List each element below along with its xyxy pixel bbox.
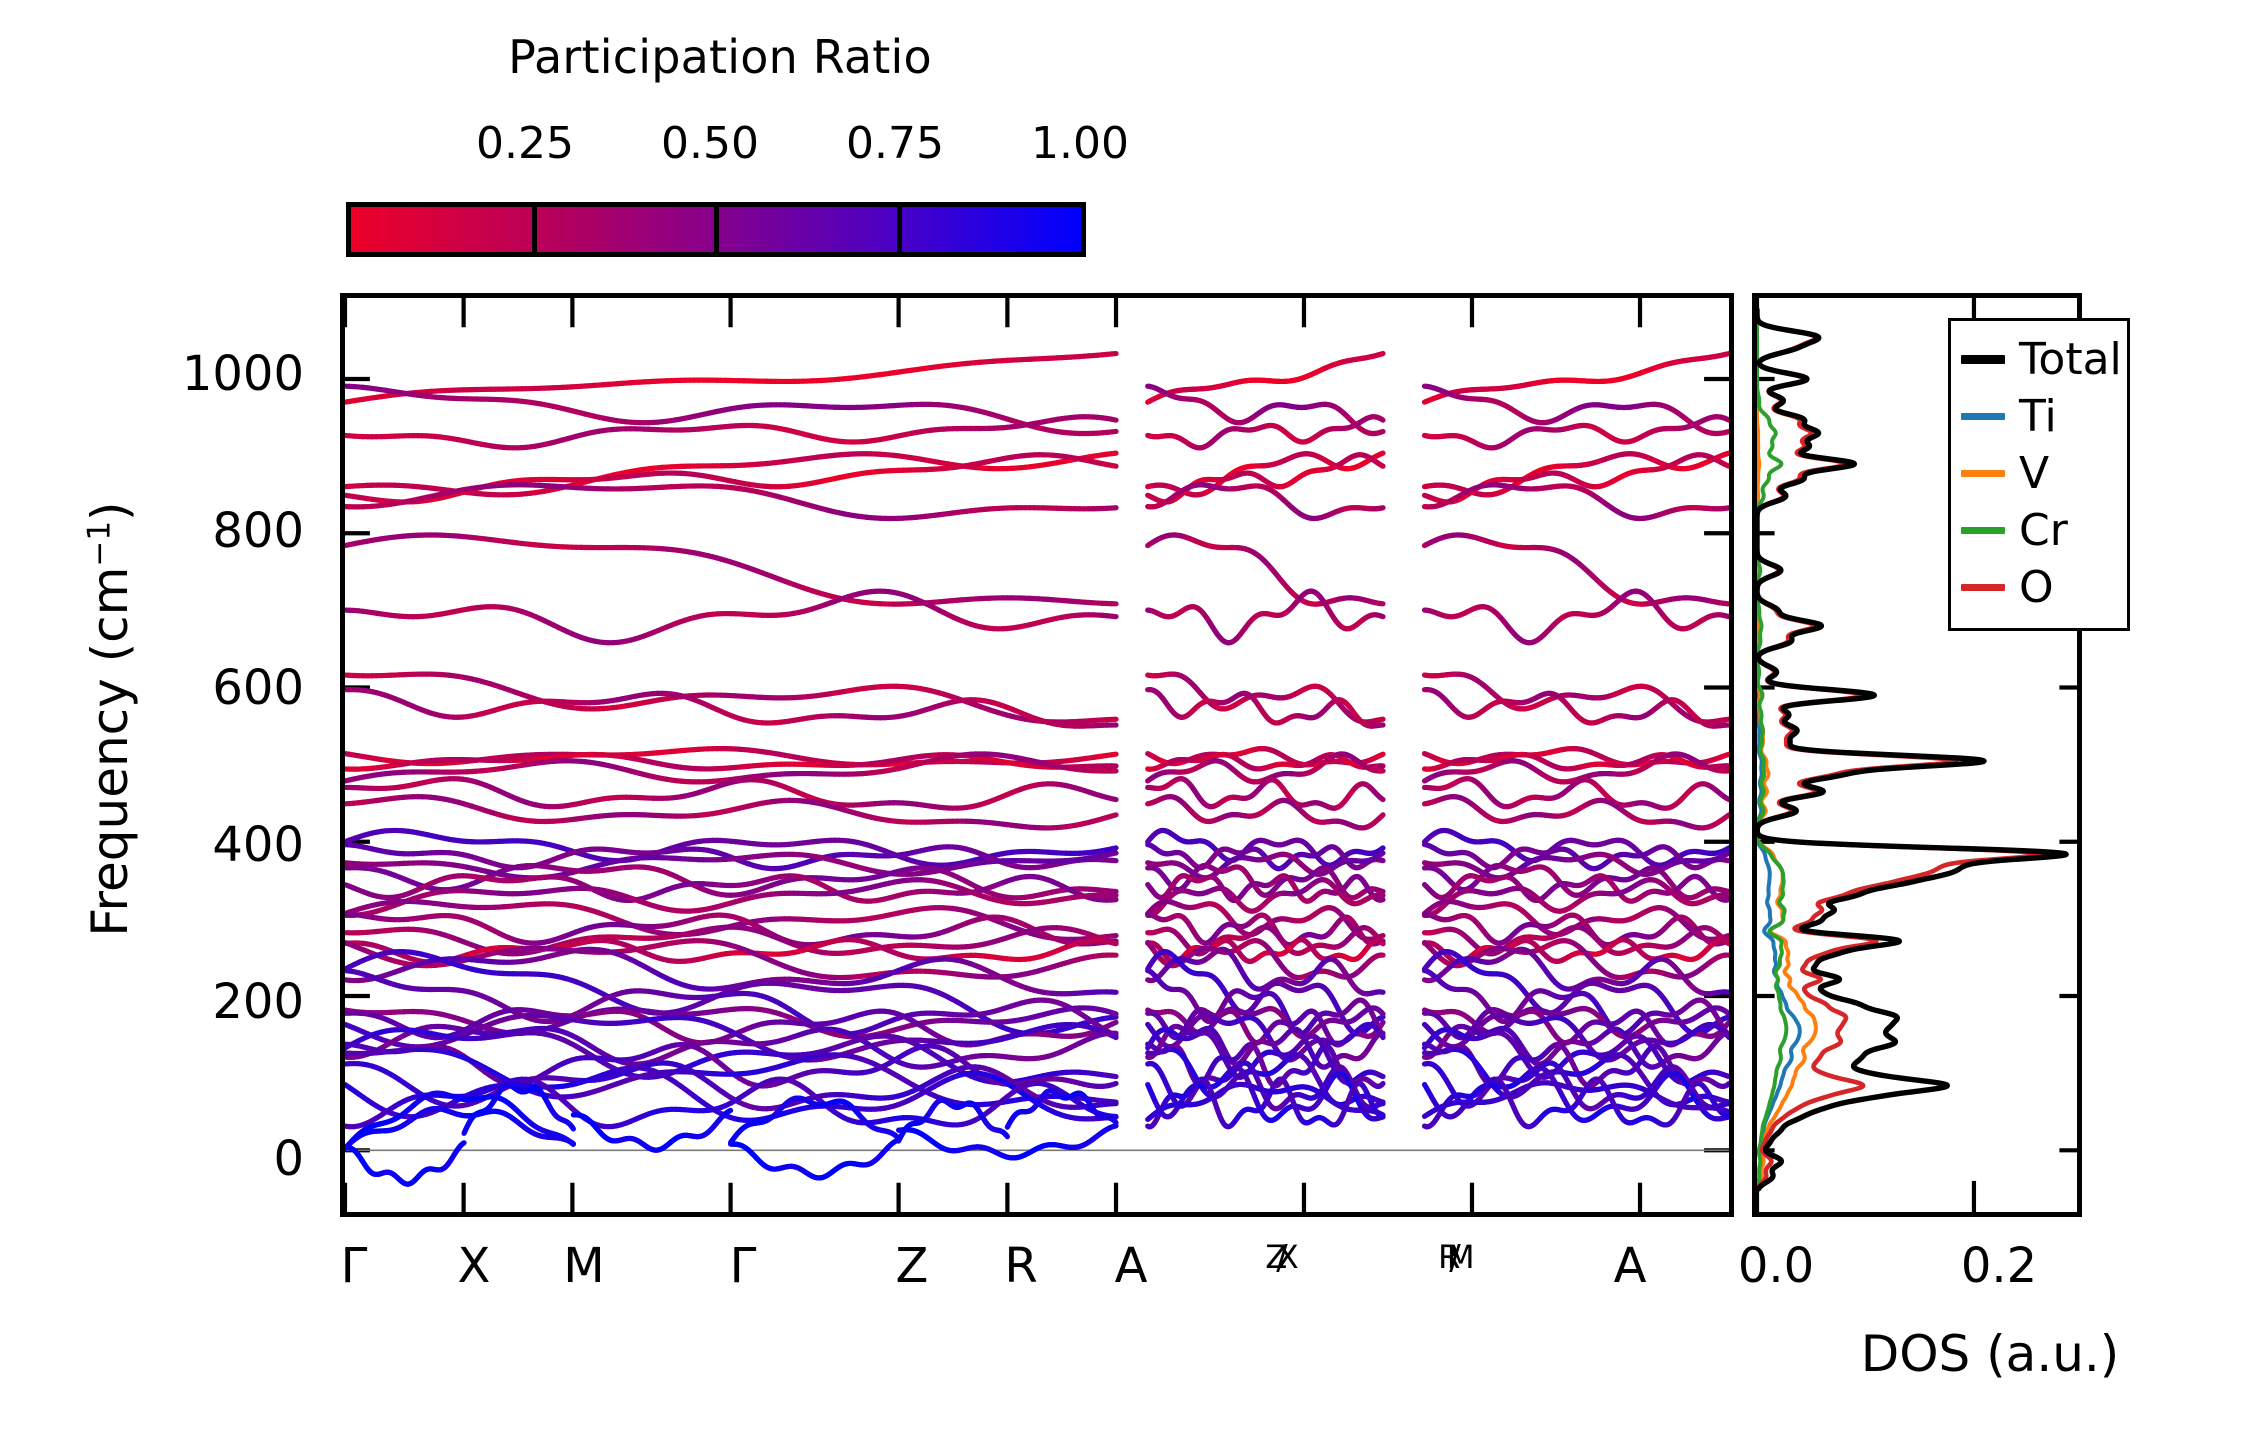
- colorbar-tick: [897, 207, 902, 252]
- colorbar-title: Participation Ratio: [340, 30, 1100, 84]
- x-axis-tick-labels: Γ X M Γ Z R A Z/X R/M A: [340, 1238, 1734, 1348]
- legend-item-o[interactable]: O: [1961, 559, 2117, 616]
- legend-swatch-ti: [1961, 413, 2005, 420]
- legend-swatch-total: [1961, 355, 2005, 364]
- y-tick-label: 800: [212, 503, 304, 559]
- colorbar-tick-label: 0.50: [661, 118, 759, 169]
- dos-legend: Total Ti V Cr O: [1948, 318, 2130, 631]
- y-axis-tick-labels: 1000 800 600 400 200 0: [0, 293, 322, 1217]
- x-tick-label-z-over-x: Z/X: [1276, 1238, 1287, 1278]
- colorbar-tick-labels: 0.25 0.50 0.75 1.00: [340, 118, 1100, 174]
- x-tick-label-a1: A: [1115, 1238, 1148, 1294]
- x-tick-label-z: Z: [896, 1238, 929, 1294]
- x-tick-label-a2: A: [1614, 1238, 1647, 1294]
- band-structure-curves: [345, 298, 1729, 1212]
- x-tick-label-x: X: [458, 1238, 491, 1294]
- phonon-figure: Participation Ratio 0.25 0.50 0.75 1.00 …: [0, 0, 2259, 1455]
- legend-label-total: Total: [2019, 338, 2122, 382]
- x-tick-label-r-over-m: R/M: [1449, 1238, 1460, 1278]
- y-tick-label: 0: [273, 1131, 304, 1187]
- y-tick-label: 1000: [182, 346, 304, 402]
- y-tick-label: 600: [212, 660, 304, 716]
- colorbar-tick-label: 0.25: [476, 118, 574, 169]
- y-tick-label: 400: [212, 817, 304, 873]
- legend-swatch-cr: [1961, 527, 2005, 534]
- legend-swatch-o: [1961, 584, 2005, 591]
- legend-label-cr: Cr: [2019, 509, 2068, 553]
- dos-axis-tick-labels: 0.0 0.2: [1752, 1238, 2082, 1308]
- legend-label-o: O: [2019, 566, 2054, 610]
- dos-tick-label: 0.2: [1961, 1238, 2037, 1294]
- legend-label-v: V: [2019, 452, 2049, 496]
- legend-item-v[interactable]: V: [1961, 445, 2117, 502]
- legend-label-ti: Ti: [2019, 395, 2057, 439]
- legend-item-total[interactable]: Total: [1961, 331, 2117, 388]
- y-tick-label: 200: [212, 974, 304, 1030]
- legend-item-ti[interactable]: Ti: [1961, 388, 2117, 445]
- x-tick-label-r: R: [1004, 1238, 1037, 1294]
- dos-axis-label: DOS (a.u.): [1730, 1325, 2250, 1383]
- x-tick-label-gamma2: Γ: [730, 1238, 757, 1294]
- dos-tick-label: 0.0: [1738, 1238, 1814, 1294]
- x-tick-label-m: M: [563, 1238, 604, 1294]
- participation-ratio-colorbar: [346, 202, 1086, 257]
- phonon-band-structure-plot: [340, 293, 1734, 1217]
- colorbar-tick: [532, 207, 537, 252]
- legend-swatch-v: [1961, 470, 2005, 477]
- colorbar-tick-label: 1.00: [1031, 118, 1129, 169]
- x-tick-label-gamma1: Γ: [341, 1238, 368, 1294]
- legend-item-cr[interactable]: Cr: [1961, 502, 2117, 559]
- colorbar-tick-label: 0.75: [846, 118, 944, 169]
- colorbar-tick: [714, 207, 719, 252]
